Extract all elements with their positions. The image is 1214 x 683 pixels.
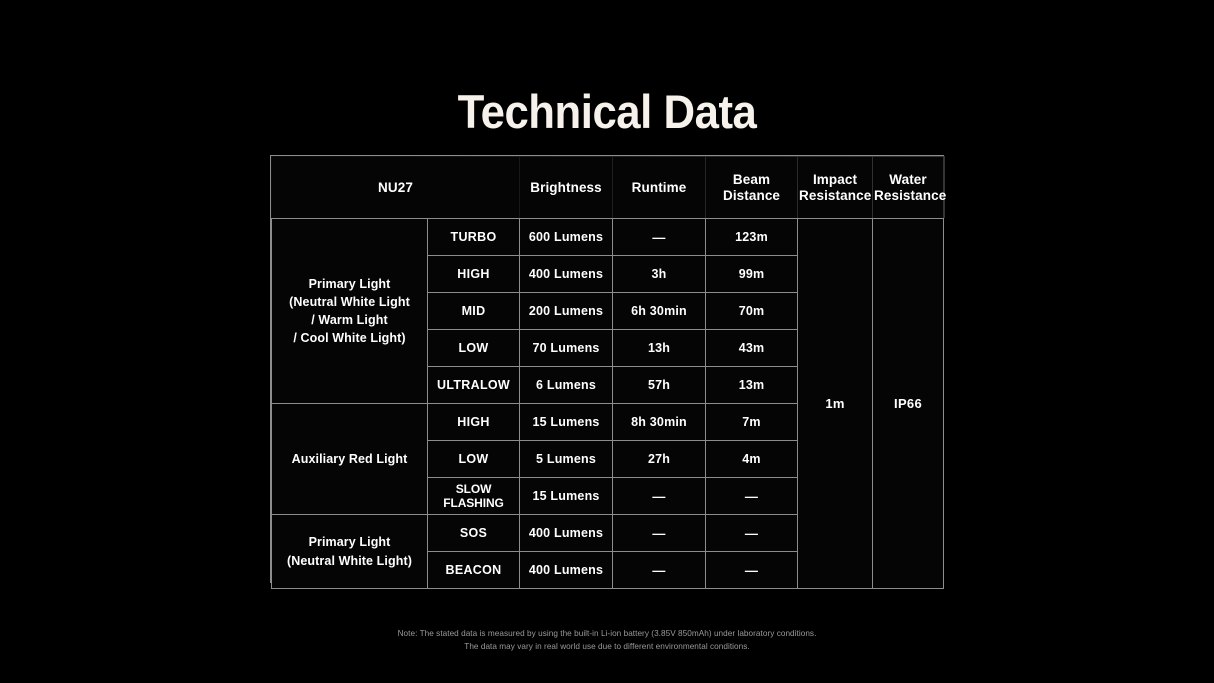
cell-runtime: 27h — [613, 441, 706, 478]
cell-brightness: 5 Lumens — [520, 441, 613, 478]
cell-beam-distance: 13m — [706, 367, 798, 404]
header-water-resistance-line2: Resistance — [874, 188, 942, 204]
cell-runtime: — — [613, 515, 706, 552]
cell-mode: LOW — [428, 330, 520, 367]
cell-mode: HIGH — [428, 404, 520, 441]
group-label: Primary Light(Neutral White Light/ Warm … — [272, 219, 428, 404]
cell-runtime: — — [613, 478, 706, 515]
cell-mode: LOW — [428, 441, 520, 478]
table-body: Primary Light(Neutral White Light/ Warm … — [272, 219, 944, 589]
header-water-resistance-line1: Water — [874, 172, 942, 188]
cell-mode: HIGH — [428, 256, 520, 293]
cell-brightness: 70 Lumens — [520, 330, 613, 367]
cell-beam-distance: 123m — [706, 219, 798, 256]
cell-beam-distance: 7m — [706, 404, 798, 441]
cell-brightness: 400 Lumens — [520, 256, 613, 293]
cell-mode: BEACON — [428, 552, 520, 589]
cell-runtime: 8h 30min — [613, 404, 706, 441]
table-row: Primary Light(Neutral White Light/ Warm … — [272, 219, 944, 256]
group-label-line: / Warm Light — [273, 311, 426, 329]
cell-beam-distance: 99m — [706, 256, 798, 293]
header-impact-resistance-line2: Resistance — [799, 188, 871, 204]
header-product: NU27 — [272, 157, 520, 219]
group-label-line: (Neutral White Light — [273, 293, 426, 311]
table-header: NU27 Brightness Runtime Beam Distance Im… — [272, 157, 944, 219]
cell-beam-distance: — — [706, 552, 798, 589]
cell-runtime: 6h 30min — [613, 293, 706, 330]
header-runtime: Runtime — [613, 157, 706, 219]
cell-brightness: 600 Lumens — [520, 219, 613, 256]
technical-data-page: Technical Data NU27 Brightness Runtime B… — [0, 0, 1214, 683]
cell-runtime: — — [613, 219, 706, 256]
cell-mode: TURBO — [428, 219, 520, 256]
footnote-line-2: The data may vary in real world use due … — [0, 640, 1214, 653]
footnote: Note: The stated data is measured by usi… — [0, 627, 1214, 653]
cell-water-resistance: IP66 — [873, 219, 944, 589]
header-impact-resistance-line1: Impact — [799, 172, 871, 188]
cell-mode: SLOW FLASHING — [428, 478, 520, 515]
footnote-line-1: Note: The stated data is measured by usi… — [0, 627, 1214, 640]
cell-brightness: 200 Lumens — [520, 293, 613, 330]
page-title: Technical Data — [42, 84, 1171, 139]
cell-runtime: 57h — [613, 367, 706, 404]
cell-brightness: 400 Lumens — [520, 515, 613, 552]
cell-runtime: 13h — [613, 330, 706, 367]
cell-mode: SOS — [428, 515, 520, 552]
group-label-line: / Cool White Light) — [273, 329, 426, 347]
cell-runtime: — — [613, 552, 706, 589]
header-water-resistance: Water Resistance — [873, 157, 944, 219]
cell-mode: MID — [428, 293, 520, 330]
header-brightness: Brightness — [520, 157, 613, 219]
cell-beam-distance: — — [706, 515, 798, 552]
cell-beam-distance: 4m — [706, 441, 798, 478]
header-beam-distance: Beam Distance — [706, 157, 798, 219]
group-label-line: Primary Light — [273, 275, 426, 293]
cell-impact-resistance: 1m — [798, 219, 873, 589]
header-row: NU27 Brightness Runtime Beam Distance Im… — [272, 157, 944, 219]
cell-runtime: 3h — [613, 256, 706, 293]
technical-data-table: NU27 Brightness Runtime Beam Distance Im… — [270, 155, 944, 583]
header-impact-resistance: Impact Resistance — [798, 157, 873, 219]
group-label: Auxiliary Red Light — [272, 404, 428, 515]
group-label-line: Primary Light — [273, 533, 426, 551]
cell-brightness: 6 Lumens — [520, 367, 613, 404]
cell-beam-distance: 70m — [706, 293, 798, 330]
cell-beam-distance: — — [706, 478, 798, 515]
group-label-line: Auxiliary Red Light — [273, 450, 426, 468]
cell-mode: ULTRALOW — [428, 367, 520, 404]
cell-beam-distance: 43m — [706, 330, 798, 367]
group-label-line: (Neutral White Light) — [273, 552, 426, 570]
group-label: Primary Light(Neutral White Light) — [272, 515, 428, 589]
cell-brightness: 15 Lumens — [520, 478, 613, 515]
cell-brightness: 15 Lumens — [520, 404, 613, 441]
cell-brightness: 400 Lumens — [520, 552, 613, 589]
